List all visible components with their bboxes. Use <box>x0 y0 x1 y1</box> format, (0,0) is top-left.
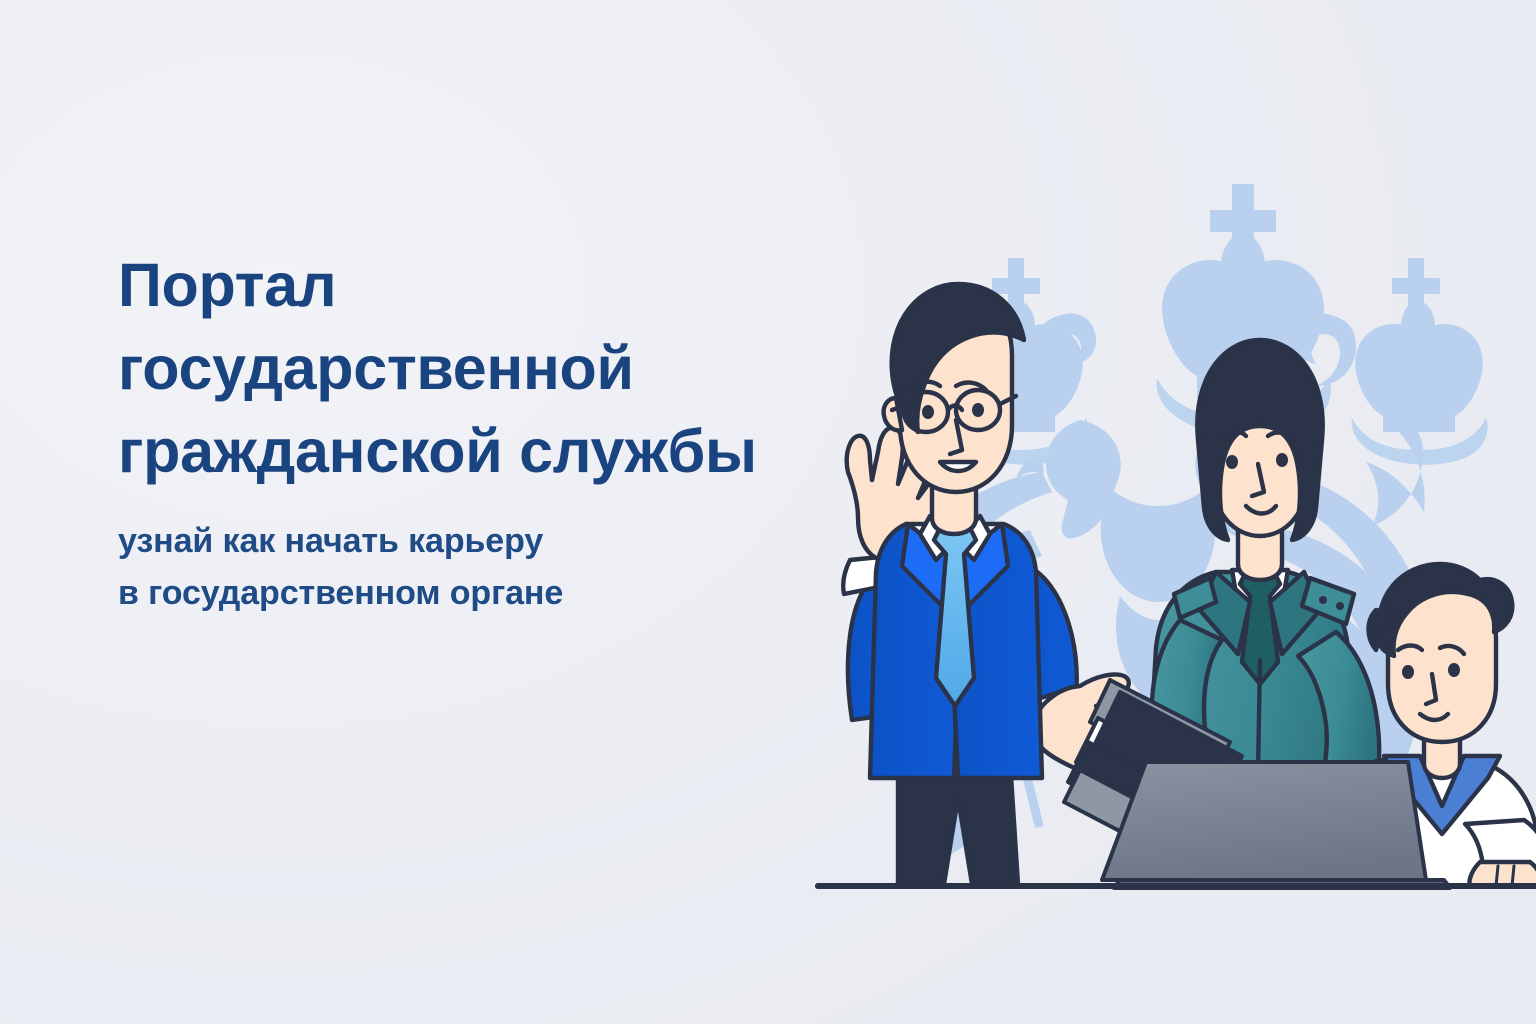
laptop <box>1102 762 1450 888</box>
promo-banner: Портал государственной гражданской служб… <box>0 0 1536 1024</box>
page-subtitle: узнай как начать карьеру в государственн… <box>118 515 818 619</box>
page-title: Портал государственной гражданской служб… <box>118 244 818 493</box>
hero-illustration <box>780 120 1536 920</box>
text-block: Портал государственной гражданской служб… <box>118 244 818 619</box>
